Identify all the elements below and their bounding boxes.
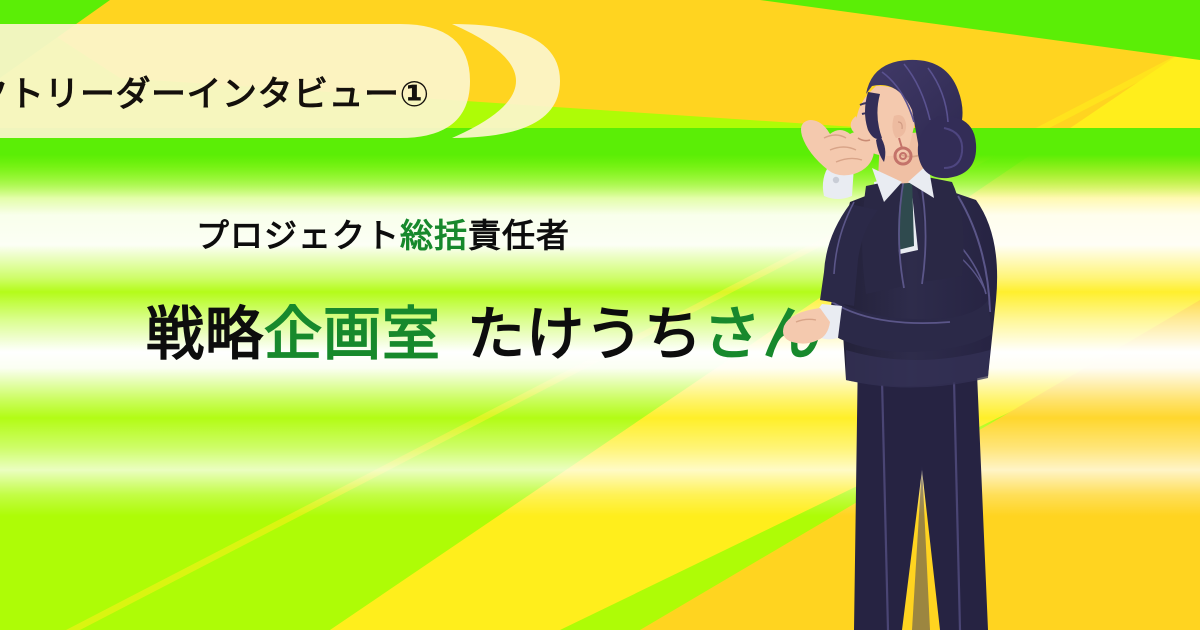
role-title: プロジェクト総括責任者: [196, 219, 570, 252]
role-accent: 総括: [400, 217, 468, 254]
ribbon-banner: ェクトリーダーインタビュー①: [0, 22, 580, 140]
ribbon-label: ェクトリーダーインタビュー①: [0, 77, 458, 112]
businesswoman-illustration: [762, 50, 1092, 630]
department-and-name: 戦略企画室たけうちさん: [146, 306, 821, 364]
cuff-button: [833, 177, 839, 183]
interview-banner: ェクトリーダーインタビュー① プロジェクト総括責任者 戦略企画室たけうちさん: [0, 0, 1200, 630]
businesswoman-illustration-icon: [762, 50, 1092, 630]
role-prefix: プロジェクト: [196, 217, 400, 254]
dept-accent: 企画室: [264, 302, 441, 367]
dept-prefix: 戦略: [146, 302, 264, 367]
figure-group: [783, 60, 997, 630]
role-suffix: 責任者: [468, 217, 570, 254]
person-name: たけうち: [467, 302, 703, 367]
